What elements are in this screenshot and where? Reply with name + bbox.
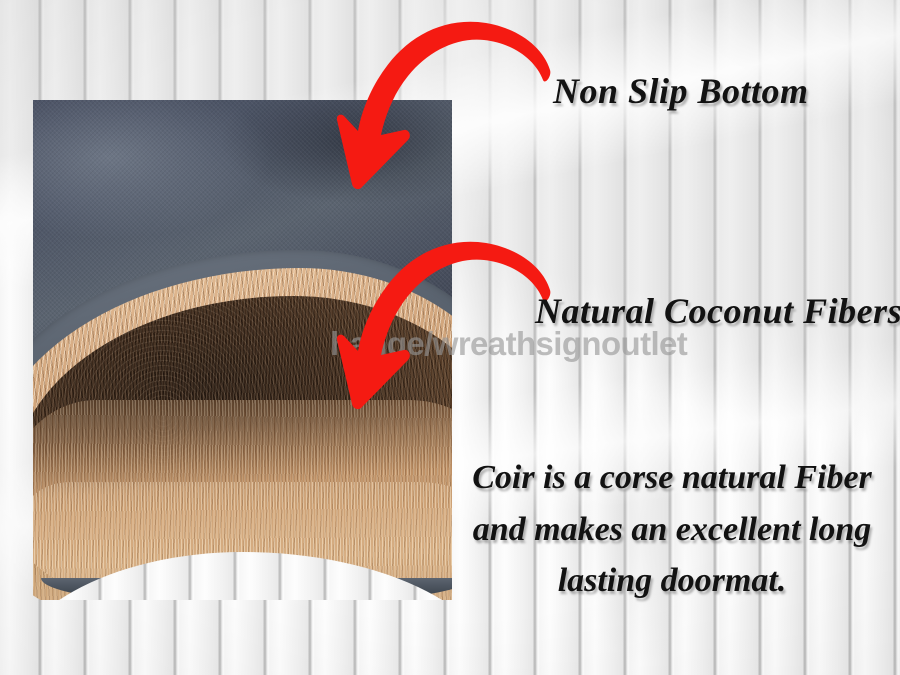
label-natural-coconut-fibers: Natural Coconut Fibers <box>535 290 900 332</box>
description-paragraph: Coir is a corse natural Fiber and makes … <box>452 452 892 607</box>
infographic-canvas: hange/wreathsignoutlet Non Slip Bottom N… <box>0 0 900 675</box>
product-photo-content <box>33 100 452 600</box>
product-photo <box>33 100 452 600</box>
label-non-slip-bottom: Non Slip Bottom <box>553 70 809 112</box>
